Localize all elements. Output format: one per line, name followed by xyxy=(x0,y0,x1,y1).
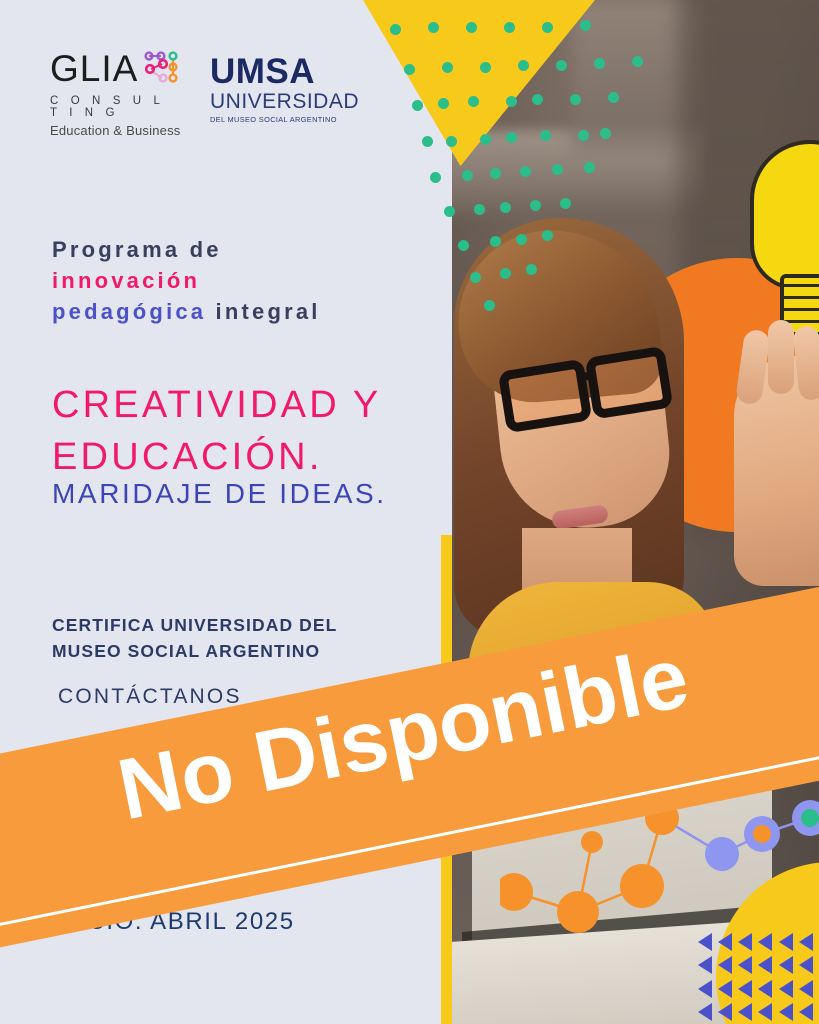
glia-wordmark: GLIA xyxy=(50,50,138,87)
certification-line-1: CERTIFICA UNIVERSIDAD DEL xyxy=(52,612,337,638)
umsa-logo: UMSA UNIVERSIDAD DEL MUSEO SOCIAL ARGENT… xyxy=(210,48,348,124)
poster-canvas: GLIA xyxy=(0,0,819,1024)
headline-line-1: CREATIVIDAD Y xyxy=(52,380,381,432)
eyebrow-line-2: innovación xyxy=(52,268,200,293)
eyebrow-line-3a: pedagógica xyxy=(52,299,206,324)
glia-logo: GLIA xyxy=(50,48,182,138)
hand-holding-bulb xyxy=(734,356,819,586)
network-nodes-icon xyxy=(142,48,182,88)
umsa-subtitle-label: DEL MUSEO SOCIAL ARGENTINO xyxy=(210,115,348,124)
glia-tagline: Education & Business xyxy=(50,123,182,138)
certification-line-2: MUSEO SOCIAL ARGENTINO xyxy=(52,638,337,664)
headline-subtitle: MARIDAJE DE IDEAS. xyxy=(52,478,387,510)
program-eyebrow: Programa de innovación pedagógica integr… xyxy=(52,234,321,328)
page-title: CREATIVIDAD Y EDUCACIÓN. xyxy=(52,380,381,483)
certification-note: CERTIFICA UNIVERSIDAD DEL MUSEO SOCIAL A… xyxy=(52,612,337,665)
logo-bar: GLIA xyxy=(50,48,348,138)
umsa-universidad-label: UNIVERSIDAD xyxy=(210,90,348,113)
contact-label[interactable]: CONTÁCTANOS xyxy=(58,685,242,709)
headline-line-2: EDUCACIÓN. xyxy=(52,432,381,484)
triangle-pattern-decoration xyxy=(698,930,819,1024)
eyebrow-line-3b: integral xyxy=(206,299,320,324)
glia-consulting-label: C O N S U L T I N G xyxy=(50,95,182,119)
umsa-wordmark: UMSA xyxy=(210,54,348,89)
eyebrow-line-1: Programa de xyxy=(52,237,222,262)
